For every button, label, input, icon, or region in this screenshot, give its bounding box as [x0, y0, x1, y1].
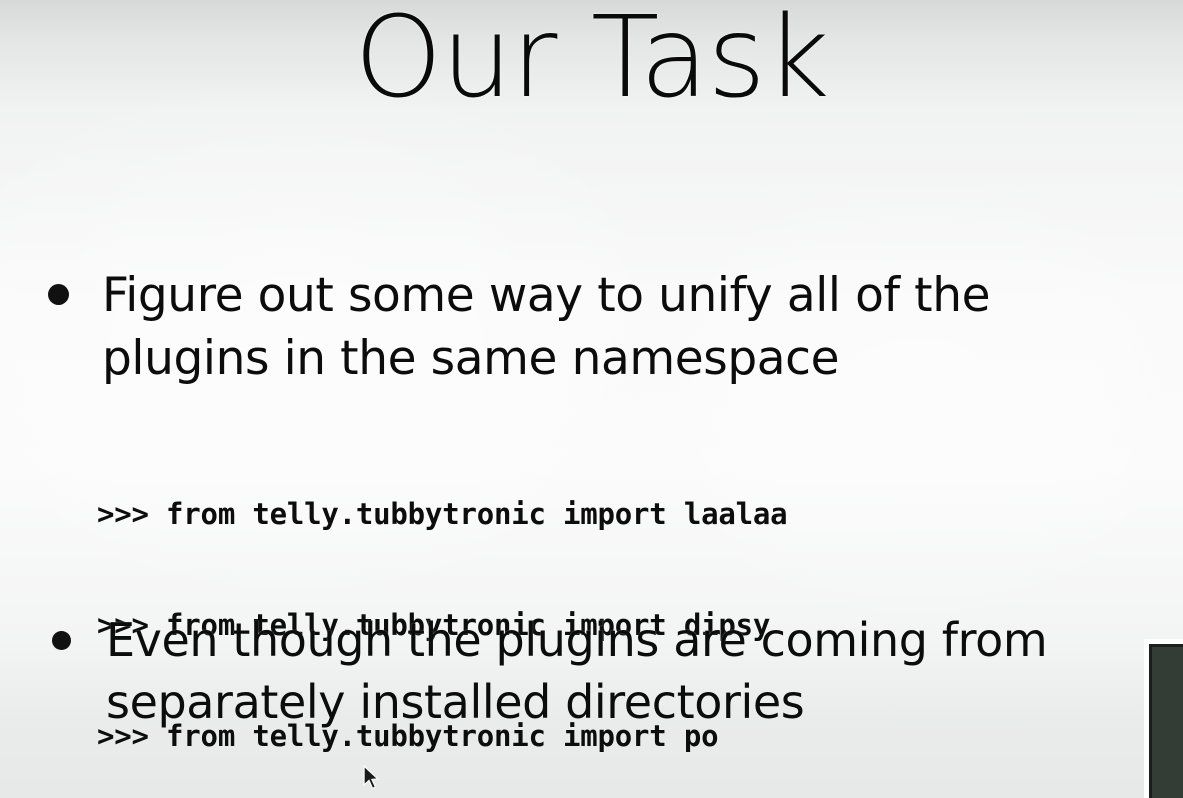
list-item-label: Even though the plugins are coming from … — [106, 609, 1052, 733]
presentation-slide: Our Task Figure out some way to unify al… — [0, 0, 1183, 798]
list-item-label: Figure out some way to unify all of the … — [102, 264, 1158, 390]
bullet-dot-icon — [48, 284, 69, 305]
arrow-cursor-icon — [362, 765, 380, 791]
edge-dark-panel — [1149, 644, 1183, 798]
code-line: >>> from telly.tubbytronic import laalaa — [97, 496, 787, 533]
bullet-dot-icon — [52, 631, 71, 650]
list-item: Even though the plugins are coming from … — [52, 609, 1052, 733]
page-title: Our Task — [0, 0, 1183, 121]
list-item: Figure out some way to unify all of the … — [48, 264, 1158, 390]
slide-content: Our Task Figure out some way to unify al… — [0, 0, 1183, 798]
